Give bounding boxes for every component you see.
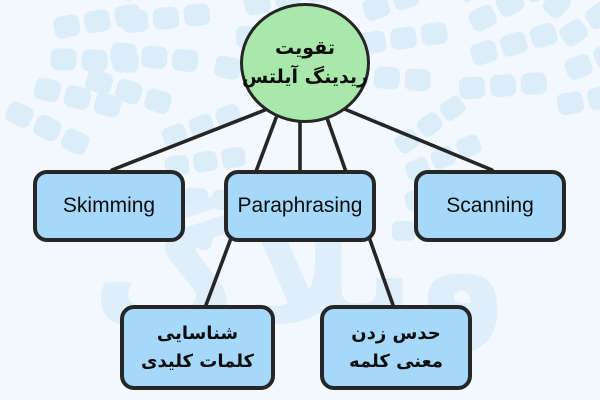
node-keyword-identification-line-2: کلمات کلیدی <box>141 350 254 374</box>
node-paraphrasing-label: Paraphrasing <box>238 192 363 220</box>
diagram-canvas: وبلاگ تقویت ریدینگ آیلتس Skimming Paraph… <box>0 0 600 400</box>
node-scanning[interactable]: Scanning <box>414 170 566 242</box>
node-layer: تقویت ریدینگ آیلتس Skimming Paraphrasing… <box>0 0 600 400</box>
node-paraphrasing[interactable]: Paraphrasing <box>224 170 376 242</box>
node-guess-word-meaning-line-2: معنی کلمه <box>349 350 443 374</box>
node-skimming-label: Skimming <box>63 192 155 220</box>
node-keyword-identification[interactable]: شناسایی کلمات کلیدی <box>120 305 275 390</box>
node-root-line-1: تقویت <box>275 36 335 61</box>
node-root-ielts-reading[interactable]: تقویت ریدینگ آیلتس <box>240 3 370 123</box>
node-guess-word-meaning[interactable]: حدس زدن معنی کلمه <box>320 305 472 390</box>
node-skimming[interactable]: Skimming <box>33 170 185 242</box>
node-root-line-2: ریدینگ آیلتس <box>242 65 368 90</box>
node-guess-word-meaning-line-1: حدس زدن <box>351 322 440 346</box>
node-keyword-identification-line-1: شناسایی <box>157 322 238 346</box>
node-scanning-label: Scanning <box>446 192 534 220</box>
